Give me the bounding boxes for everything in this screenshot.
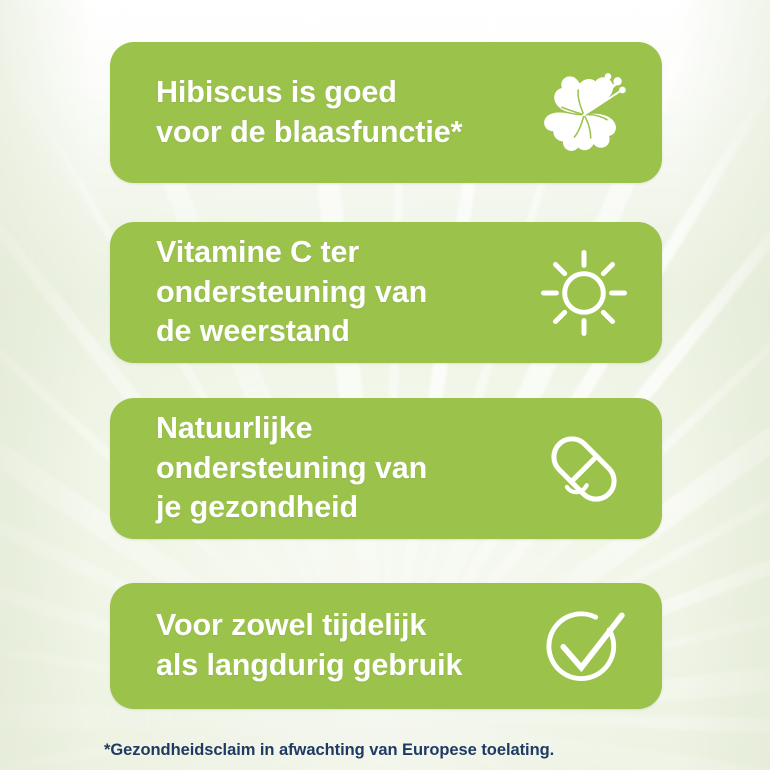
check-circle-icon: [532, 601, 636, 691]
footnote-text: *Gezondheidsclaim in afwachting van Euro…: [104, 741, 554, 760]
benefit-card-natural-support[interactable]: Natuurlijke ondersteuning van je gezondh…: [110, 398, 662, 539]
benefit-card-hibiscus[interactable]: Hibiscus is goed voor de blaasfunctie*: [110, 42, 662, 183]
benefit-card-usage[interactable]: Voor zowel tijdelijk als langdurig gebru…: [110, 583, 662, 709]
sun-icon: [532, 247, 636, 339]
benefit-card-text: Voor zowel tijdelijk als langdurig gebru…: [156, 606, 532, 685]
hibiscus-flower-icon: [532, 65, 636, 161]
capsule-pill-icon: [532, 424, 636, 514]
benefit-card-vitamin-c[interactable]: Vitamine C ter ondersteuning van de weer…: [110, 222, 662, 363]
benefit-card-text: Hibiscus is goed voor de blaasfunctie*: [156, 73, 532, 152]
benefit-card-text: Natuurlijke ondersteuning van je gezondh…: [156, 409, 532, 528]
benefits-poster: Hibiscus is goed voor de blaasfunctie*: [0, 0, 770, 770]
benefit-card-text: Vitamine C ter ondersteuning van de weer…: [156, 233, 532, 352]
